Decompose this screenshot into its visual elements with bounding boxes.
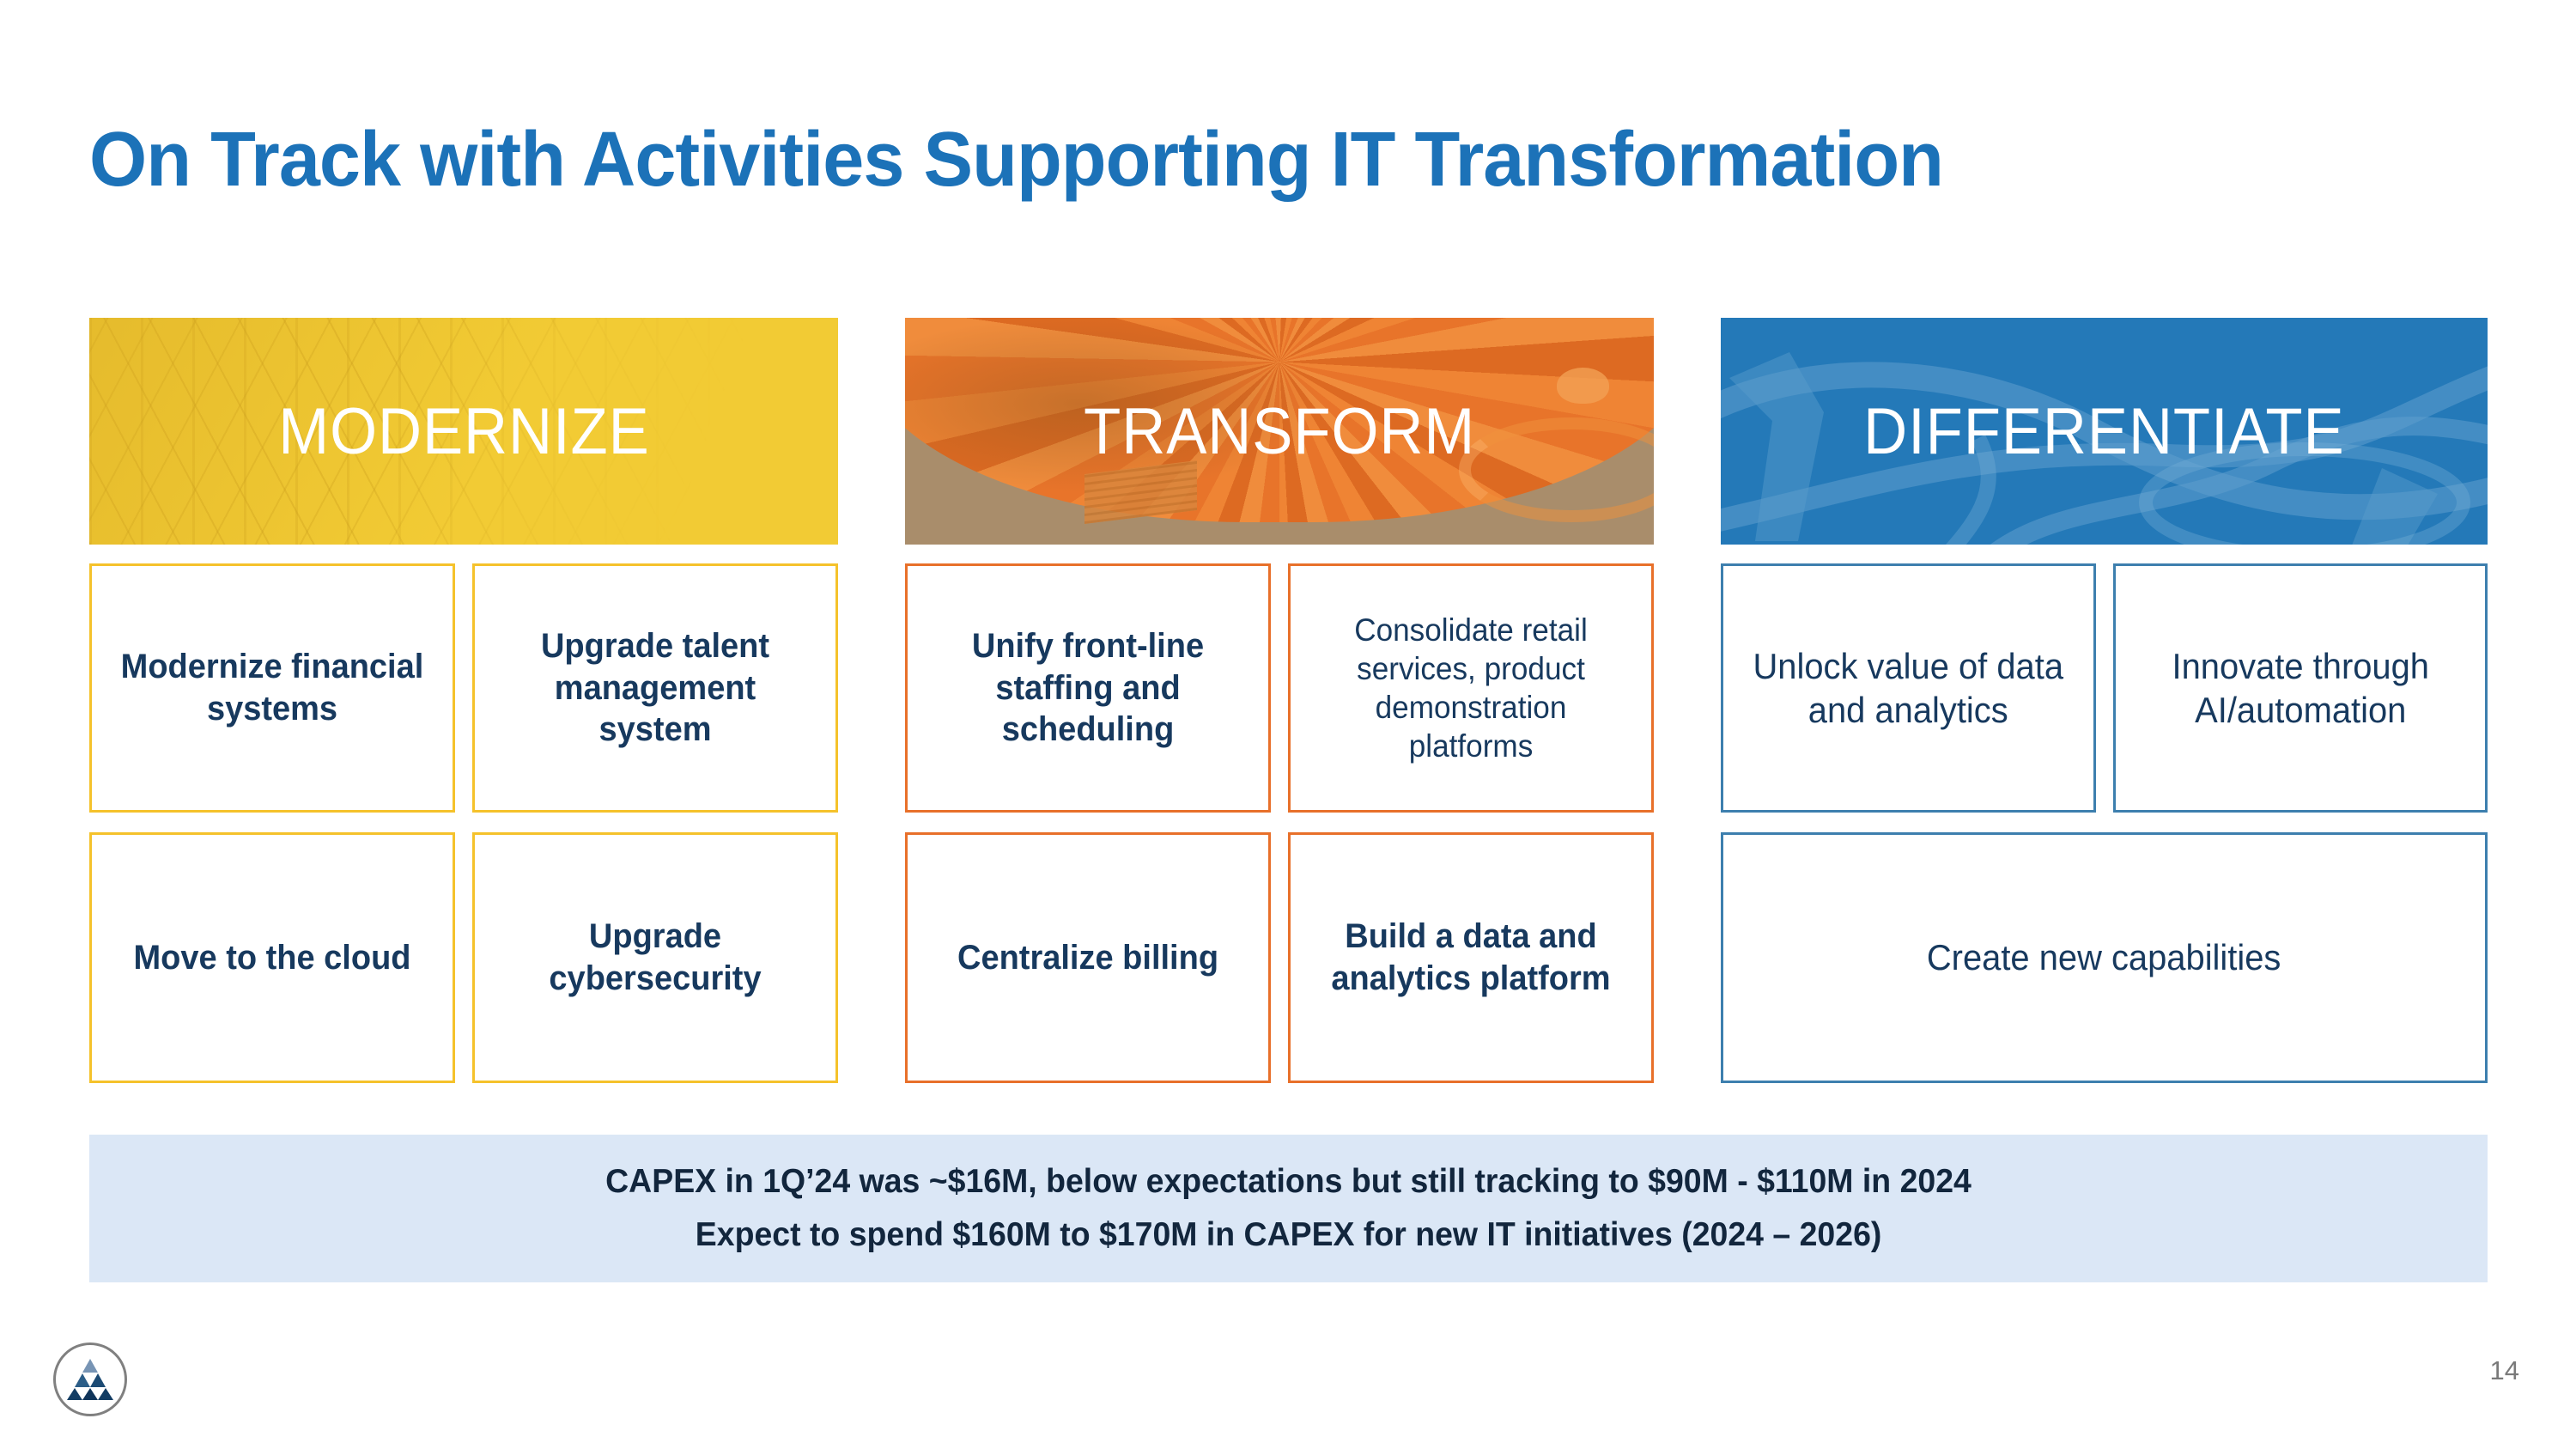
- card-label: Modernize financial systems: [112, 646, 432, 730]
- capex-line-1: CAPEX in 1Q’24 was ~$16M, below expectat…: [605, 1163, 1971, 1201]
- banner-label-transform: TRANSFORM: [1084, 394, 1475, 469]
- pillar-column-differentiate: DIFFERENTIATE Unlock value of data and a…: [1721, 318, 2488, 1113]
- modernize-row-1: Modernize financial systems Upgrade tale…: [89, 563, 838, 813]
- pillar-column-modernize: MODERNIZE Modernize financial systems Up…: [89, 318, 838, 1113]
- card-unlock-value-of-data[interactable]: Unlock value of data and analytics: [1721, 563, 2096, 813]
- card-label: Upgrade cybersecurity: [495, 916, 815, 1000]
- pillar-column-transform: TRANSFORM Unify front-line staffing and …: [905, 318, 1654, 1113]
- banner-differentiate[interactable]: DIFFERENTIATE: [1721, 318, 2488, 545]
- card-label: Innovate through AI/automation: [2136, 644, 2464, 732]
- card-innovate-through-ai-automation[interactable]: Innovate through AI/automation: [2113, 563, 2488, 813]
- card-label: Build a data and analytics platform: [1311, 916, 1631, 1000]
- card-upgrade-cybersecurity[interactable]: Upgrade cybersecurity: [472, 832, 838, 1083]
- triangle-fractal-logo-icon: [53, 1342, 127, 1416]
- card-consolidate-retail-services[interactable]: Consolidate retail services, product dem…: [1288, 563, 1654, 813]
- banner-label-modernize: MODERNIZE: [278, 394, 649, 469]
- column-gap-2: [1654, 318, 1721, 1113]
- card-label: Centralize billing: [957, 937, 1218, 979]
- capex-line-2: Expect to spend $160M to $170M in CAPEX …: [696, 1216, 1882, 1254]
- differentiate-row-1: Unlock value of data and analytics Innov…: [1721, 563, 2488, 813]
- card-move-to-the-cloud[interactable]: Move to the cloud: [89, 832, 455, 1083]
- page-number: 14: [2490, 1355, 2519, 1386]
- card-centralize-billing[interactable]: Centralize billing: [905, 832, 1271, 1083]
- card-label: Unify front-line staffing and scheduling: [928, 625, 1248, 751]
- card-build-data-analytics-platform[interactable]: Build a data and analytics platform: [1288, 832, 1654, 1083]
- card-label: Consolidate retail services, product dem…: [1311, 611, 1631, 766]
- differentiate-row-2: Create new capabilities: [1721, 832, 2488, 1083]
- transform-row-1: Unify front-line staffing and scheduling…: [905, 563, 1654, 813]
- banner-label-differentiate: DIFFERENTIATE: [1863, 394, 2345, 469]
- card-modernize-financial-systems[interactable]: Modernize financial systems: [89, 563, 455, 813]
- card-create-new-capabilities[interactable]: Create new capabilities: [1721, 832, 2488, 1083]
- card-label: Move to the cloud: [134, 937, 411, 979]
- card-label: Unlock value of data and analytics: [1744, 644, 2072, 732]
- capex-callout: CAPEX in 1Q’24 was ~$16M, below expectat…: [89, 1135, 2488, 1282]
- pillar-columns: MODERNIZE Modernize financial systems Up…: [89, 318, 2488, 1113]
- logo-triangles: [67, 1359, 113, 1400]
- card-label: Upgrade talent management system: [495, 625, 815, 751]
- card-upgrade-talent-management[interactable]: Upgrade talent management system: [472, 563, 838, 813]
- banner-transform[interactable]: TRANSFORM: [905, 318, 1654, 545]
- column-gap-1: [838, 318, 905, 1113]
- card-label: Create new capabilities: [1927, 935, 2281, 979]
- modernize-row-2: Move to the cloud Upgrade cybersecurity: [89, 832, 838, 1083]
- page-title: On Track with Activities Supporting IT T…: [89, 116, 2397, 204]
- transform-row-2: Centralize billing Build a data and anal…: [905, 832, 1654, 1083]
- card-unify-front-line-staffing[interactable]: Unify front-line staffing and scheduling: [905, 563, 1271, 813]
- banner-modernize[interactable]: MODERNIZE: [89, 318, 838, 545]
